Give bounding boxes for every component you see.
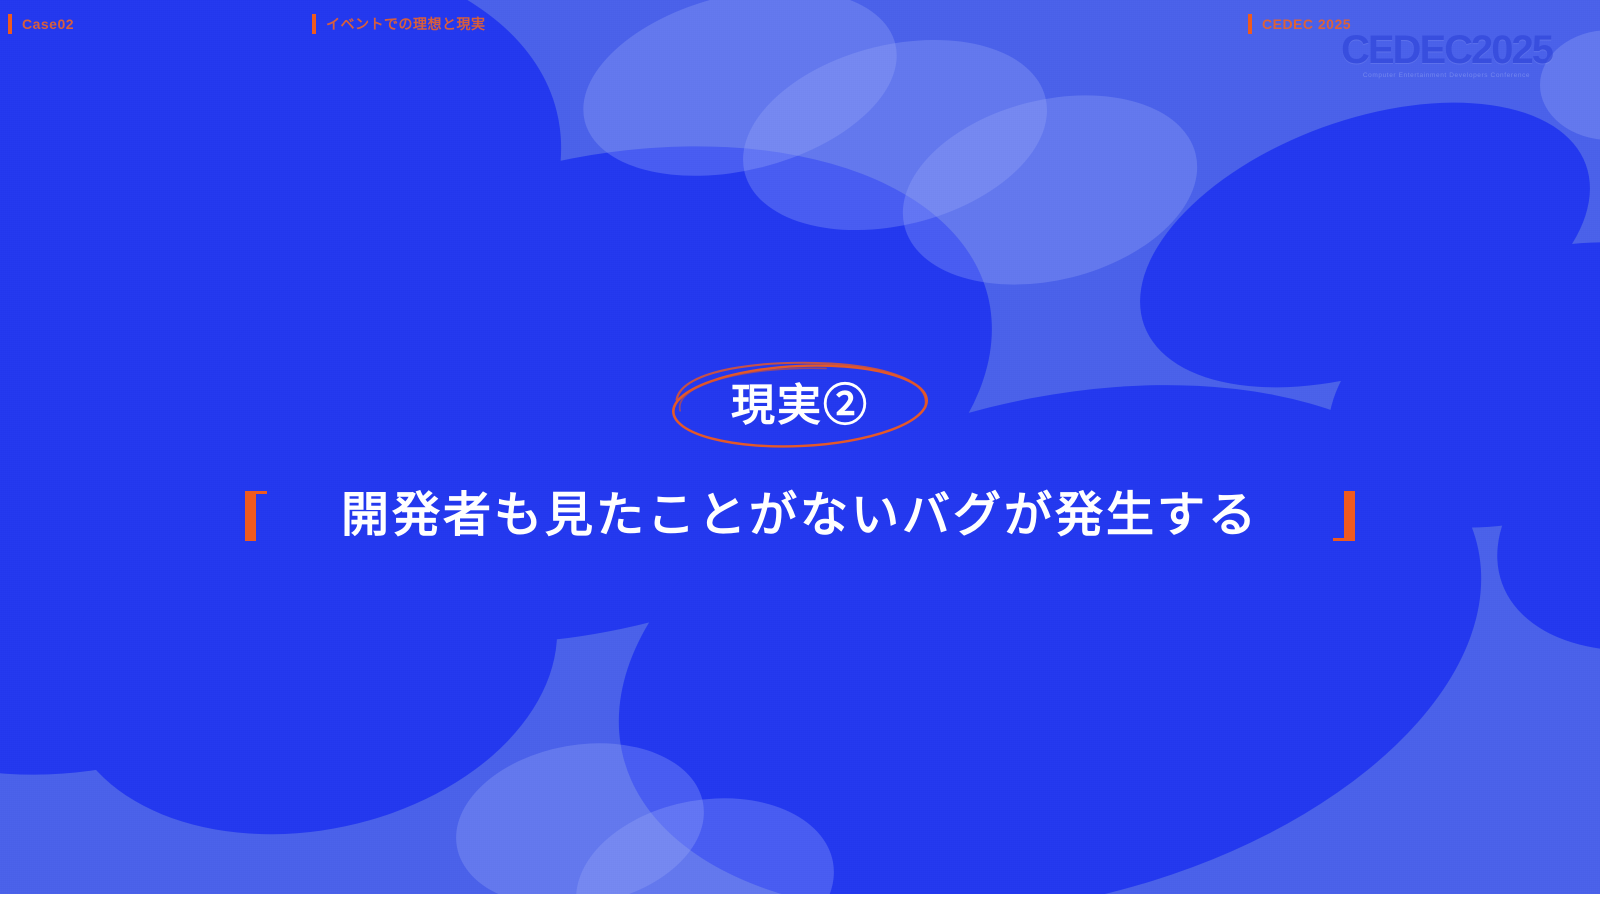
header-accent-bar-left xyxy=(8,14,12,34)
headline-text: 開発者も見たことがないバグが発生する xyxy=(267,490,1333,543)
cedec-logo-tagline: Computer Entertainment Developers Confer… xyxy=(1341,73,1552,80)
header-section-label: イベントでの理想と現実 xyxy=(312,14,486,34)
header-accent-bar-center xyxy=(312,14,316,34)
header-case-label: Case02 xyxy=(8,14,74,34)
open-bracket-icon xyxy=(245,491,267,541)
headline-row: 開発者も見たことがないバグが発生する xyxy=(245,490,1355,543)
reality-badge-text: 現実② xyxy=(731,384,869,428)
slide-root: Case02 イベントでの理想と現実 CEDEC 2025 CEDEC2025 … xyxy=(0,0,1600,900)
slide-content: 現実② 開発者も見たことがないバグが発生する xyxy=(0,0,1600,900)
bottom-strip xyxy=(0,894,1600,900)
header-case-text: Case02 xyxy=(22,16,74,32)
cedec-logo: CEDEC2025 Computer Entertainment Develop… xyxy=(1341,30,1552,80)
cedec-logo-wordmark: CEDEC2025 xyxy=(1341,30,1552,70)
close-bracket-icon xyxy=(1333,491,1355,541)
header-event-label: CEDEC 2025 xyxy=(1248,14,1351,34)
reality-badge: 現実② xyxy=(661,358,939,454)
header-accent-bar-right xyxy=(1248,14,1252,34)
header-event-text: CEDEC 2025 xyxy=(1262,16,1351,32)
header-section-text: イベントでの理想と現実 xyxy=(326,14,486,34)
